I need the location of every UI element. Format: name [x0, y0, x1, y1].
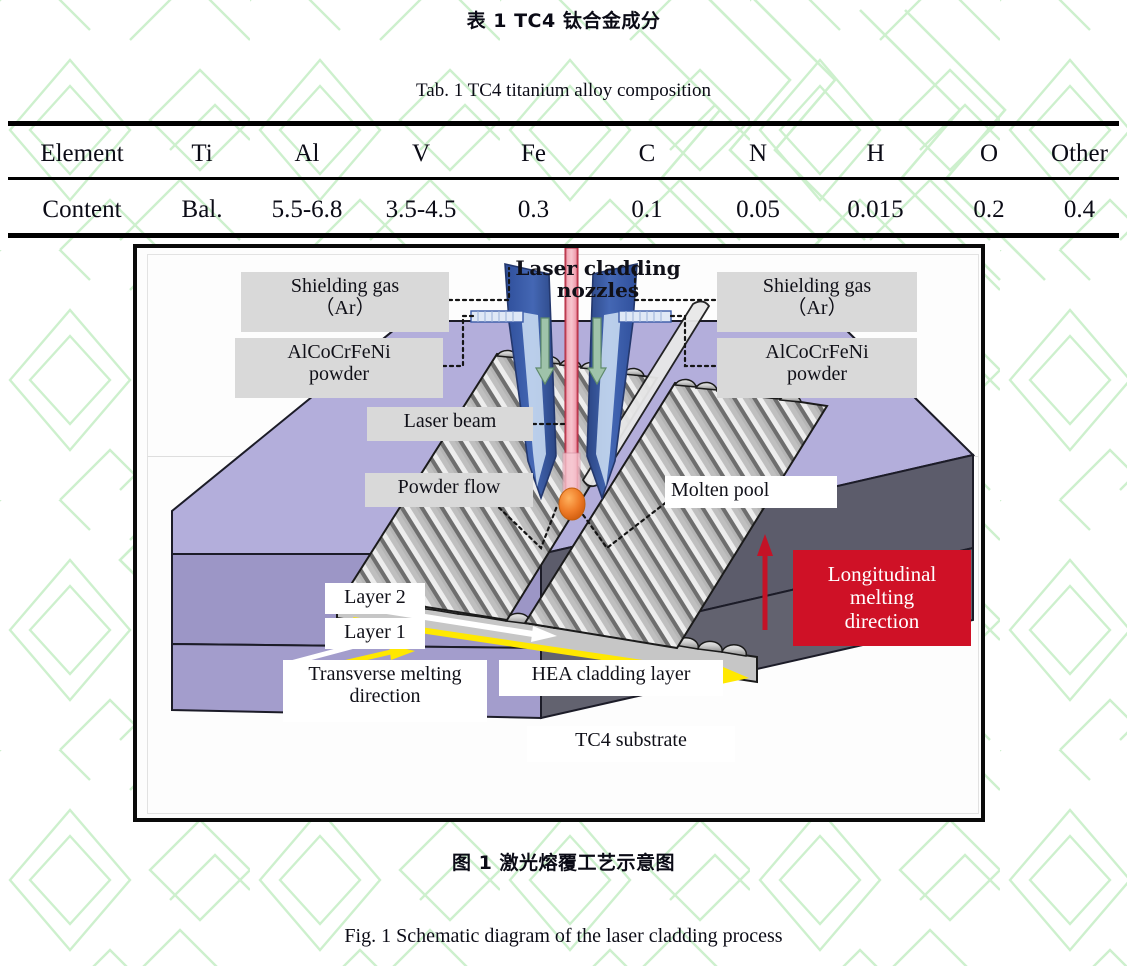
td-content-label: Content [8, 187, 156, 233]
longitudinal-line3: direction [828, 610, 937, 634]
powder-right-line1: AlCoCrFeNi [723, 341, 911, 363]
figure-caption-cn: 图 1 激光熔覆工艺示意图 [0, 848, 1127, 875]
transverse-line2: direction [289, 685, 481, 707]
shielding-gas-left-line1: Shielding gas [247, 275, 443, 297]
td-c: 0.1 [591, 187, 703, 233]
label-laser-beam: Laser beam [367, 407, 533, 441]
table-header-row: Element Ti Al V Fe C N H O Other [8, 131, 1119, 177]
label-transverse-melting-direction: Transverse melting direction [283, 660, 487, 722]
th-o: O [938, 131, 1040, 177]
td-ti: Bal. [156, 187, 248, 233]
nozzle-inlet-right [619, 311, 671, 322]
molten-pool-dot [559, 488, 585, 520]
table-rule-bottom [8, 233, 1119, 238]
td-al: 5.5-6.8 [248, 187, 366, 233]
td-other: 0.4 [1040, 187, 1119, 233]
label-molten-pool: Molten pool [665, 476, 837, 508]
table-rule-top [8, 121, 1119, 126]
th-element: Element [8, 131, 156, 177]
table-row: Content Bal. 5.5-6.8 3.5-4.5 0.3 0.1 0.0… [8, 187, 1119, 233]
th-c: C [591, 131, 703, 177]
powder-left-line1: AlCoCrFeNi [241, 341, 437, 363]
label-powder-left: AlCoCrFeNi powder [235, 338, 443, 398]
table-rule-middle [8, 177, 1119, 180]
td-v: 3.5-4.5 [366, 187, 476, 233]
figure-caption-en: Fig. 1 Schematic diagram of the laser cl… [0, 925, 1127, 948]
th-other: Other [1040, 131, 1119, 177]
th-n: N [703, 131, 813, 177]
td-fe: 0.3 [476, 187, 591, 233]
longitudinal-line2: melting [828, 586, 937, 610]
longitudinal-line1: Longitudinal [828, 563, 937, 587]
td-o: 0.2 [938, 187, 1040, 233]
figure-frame: Laser cladding nozzles Shielding gas （Ar… [133, 244, 985, 822]
td-h: 0.015 [813, 187, 938, 233]
label-shielding-gas-left: Shielding gas （Ar） [241, 272, 449, 332]
label-longitudinal-melting-direction: Longitudinal melting direction [793, 550, 971, 646]
label-powder-flow: Powder flow [365, 473, 533, 507]
powder-right-line2: powder [723, 363, 911, 385]
transverse-line1: Transverse melting [289, 663, 481, 685]
label-shielding-gas-right: Shielding gas （Ar） [717, 272, 917, 332]
nozzle-inlet-left [471, 311, 523, 322]
label-laser-cladding-nozzles: Laser cladding nozzles [478, 254, 718, 305]
td-n: 0.05 [703, 187, 813, 233]
shielding-gas-right-line2: （Ar） [723, 297, 911, 319]
th-al: Al [248, 131, 366, 177]
shielding-gas-right-line1: Shielding gas [723, 275, 911, 297]
th-h: H [813, 131, 938, 177]
table-title-en: Tab. 1 TC4 titanium alloy composition [0, 80, 1127, 102]
label-powder-right: AlCoCrFeNi powder [717, 338, 917, 398]
label-hea-cladding-layer: HEA cladding layer [499, 660, 723, 696]
table-title-cn: 表 1 TC4 钛合金成分 [0, 6, 1127, 33]
th-ti: Ti [156, 131, 248, 177]
powder-left-line2: powder [241, 363, 437, 385]
th-fe: Fe [476, 131, 591, 177]
th-v: V [366, 131, 476, 177]
label-tc4-substrate: TC4 substrate [527, 726, 735, 762]
shielding-gas-left-line2: （Ar） [247, 297, 443, 319]
label-layer-1: Layer 1 [325, 618, 425, 649]
label-layer-2: Layer 2 [325, 583, 425, 614]
